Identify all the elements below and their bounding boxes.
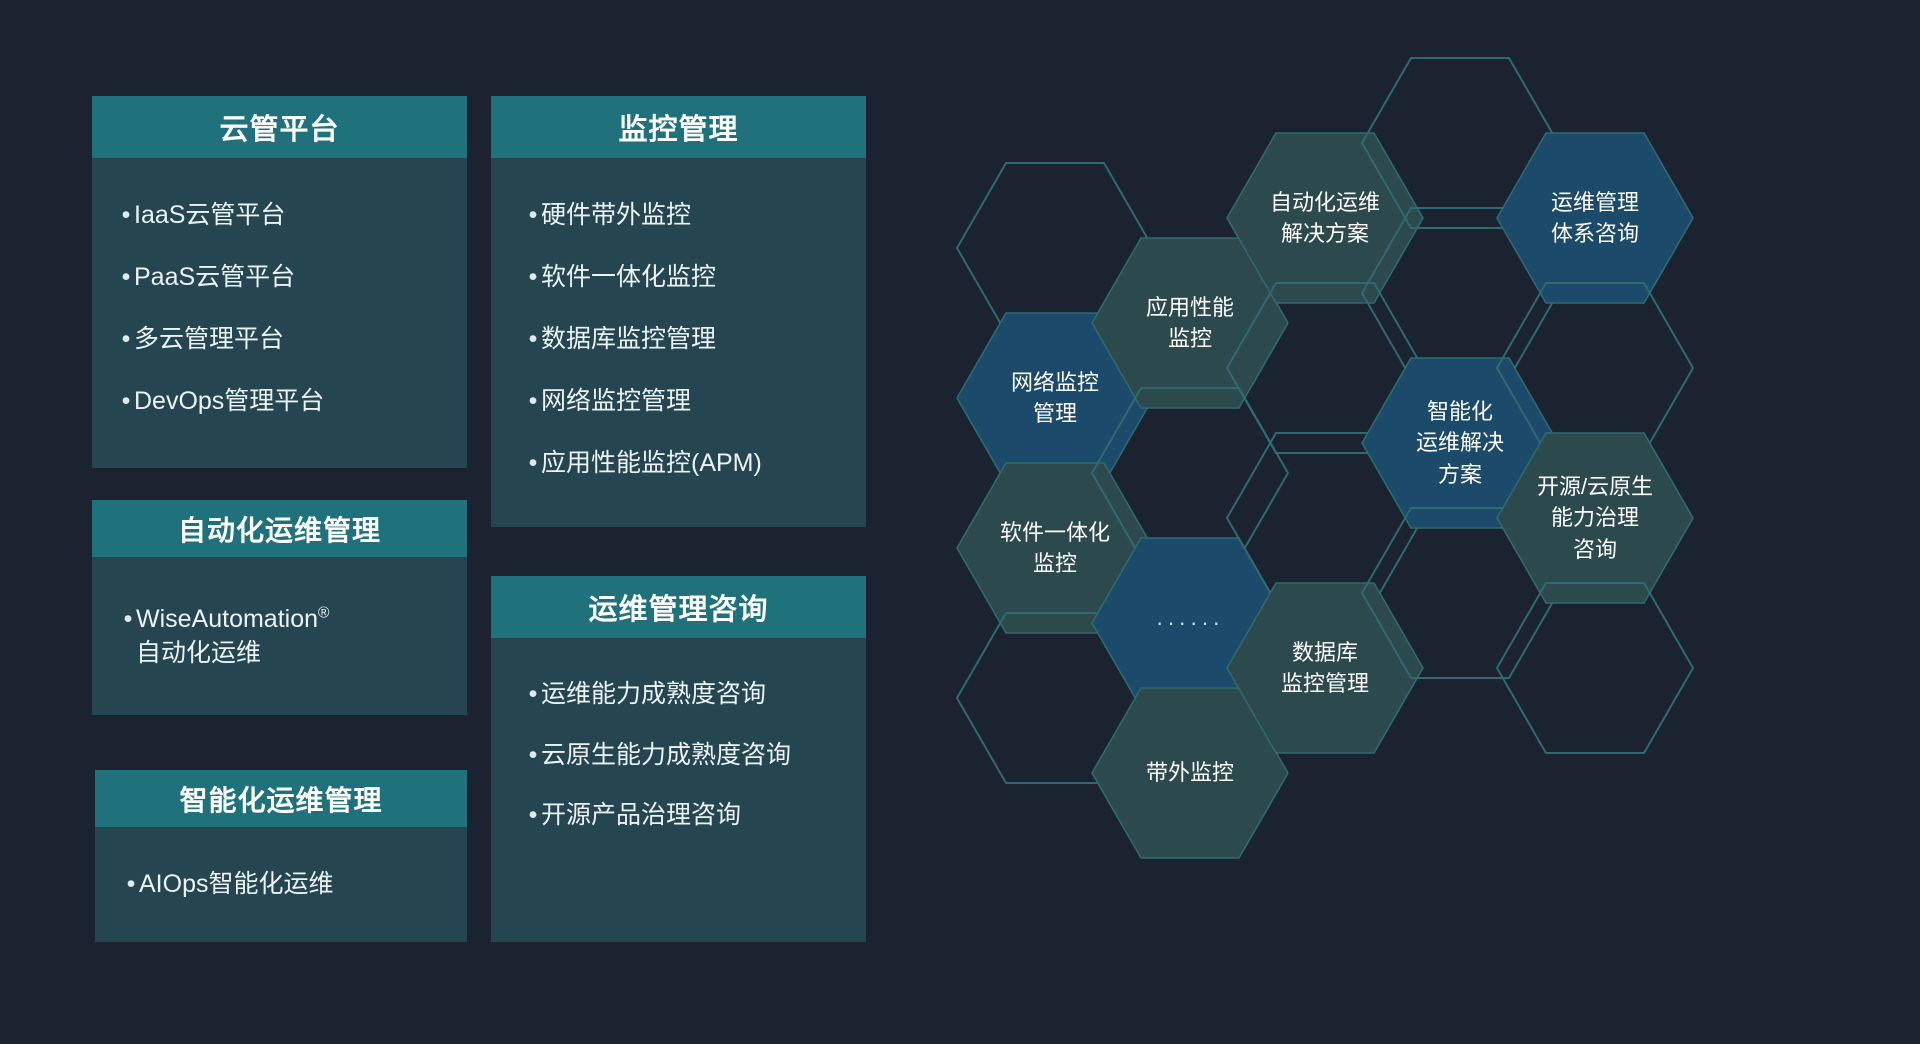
list-item-label: 软件一体化监控 — [541, 261, 852, 293]
card-ops-consulting-title: 运维管理咨询 — [491, 576, 866, 638]
diagram-root: 云管平台 • IaaS云管平台 • PaaS云管平台 • 多云管理平台 • De… — [0, 0, 1920, 1044]
card-ops-consulting-body: • 运维能力成熟度咨询 • 云原生能力成熟度咨询 • 开源产品治理咨询 — [491, 638, 866, 942]
list-item-label: DevOps管理平台 — [134, 385, 453, 417]
list-item-label: 云原生能力成熟度咨询 — [541, 739, 852, 772]
card-cloud-platform[interactable]: 云管平台 • IaaS云管平台 • PaaS云管平台 • 多云管理平台 • De… — [92, 96, 467, 468]
list-item: • PaaS云管平台 — [118, 261, 453, 293]
list-item-label: PaaS云管平台 — [134, 261, 453, 293]
list-item: • DevOps管理平台 — [118, 385, 453, 417]
card-cloud-platform-title: 云管平台 — [92, 96, 467, 158]
bullet-icon: • — [525, 261, 541, 293]
card-automation-ops[interactable]: 自动化运维管理 • WiseAutomation®自动化运维 — [92, 500, 467, 715]
list-item-label: AIOps智能化运维 — [139, 868, 453, 901]
bullet-icon: • — [525, 385, 541, 417]
list-item-label: 应用性能监控(APM) — [541, 447, 852, 479]
list-item: • 开源产品治理咨询 — [525, 799, 852, 832]
card-aiops[interactable]: 智能化运维管理 • AIOps智能化运维 — [95, 770, 467, 942]
card-monitoring-title: 监控管理 — [491, 96, 866, 158]
list-item-label: 网络监控管理 — [541, 385, 852, 417]
hex-empty-j — [1497, 583, 1693, 753]
product-name: WiseAutomation — [136, 605, 318, 633]
card-aiops-title: 智能化运维管理 — [95, 770, 467, 827]
bullet-icon: • — [525, 799, 541, 832]
bullet-icon: • — [525, 199, 541, 231]
bullet-icon: • — [118, 261, 134, 293]
capability-cards-panel: 云管平台 • IaaS云管平台 • PaaS云管平台 • 多云管理平台 • De… — [0, 0, 900, 1044]
card-monitoring-body: • 硬件带外监控 • 软件一体化监控 • 数据库监控管理 • 网络监控管理 • — [491, 158, 866, 527]
registered-trademark-icon: ® — [318, 605, 329, 622]
list-item-label: WiseAutomation®自动化运维 — [136, 602, 453, 670]
list-item: • IaaS云管平台 — [118, 199, 453, 231]
bullet-icon: • — [120, 602, 136, 636]
list-item: • 多云管理平台 — [118, 323, 453, 355]
list-item: • 网络监控管理 — [525, 385, 852, 417]
hexagon-grid-panel: 网络监控 管理软件一体化 监控应用性能 监控······带外监控自动化运维 解决… — [900, 0, 1920, 1044]
list-item-label: IaaS云管平台 — [134, 199, 453, 231]
list-item-label: 开源产品治理咨询 — [541, 799, 852, 832]
list-item-label: 硬件带外监控 — [541, 199, 852, 231]
list-item: • 运维能力成熟度咨询 — [525, 678, 852, 711]
list-item: • 软件一体化监控 — [525, 261, 852, 293]
card-aiops-body: • AIOps智能化运维 — [95, 827, 467, 942]
bullet-icon: • — [525, 447, 541, 479]
card-ops-consulting[interactable]: 运维管理咨询 • 运维能力成熟度咨询 • 云原生能力成熟度咨询 • 开源产品治理… — [491, 576, 866, 942]
bullet-icon: • — [118, 323, 134, 355]
list-item: • 硬件带外监控 — [525, 199, 852, 231]
list-item-label: 数据库监控管理 — [541, 323, 852, 355]
card-automation-ops-body: • WiseAutomation®自动化运维 — [92, 557, 467, 715]
bullet-icon: • — [123, 868, 139, 901]
bullet-icon: • — [118, 385, 134, 417]
list-item: • 应用性能监控(APM) — [525, 447, 852, 479]
list-item: • WiseAutomation®自动化运维 — [120, 602, 453, 670]
bullet-icon: • — [525, 323, 541, 355]
list-item-label: 多云管理平台 — [134, 323, 453, 355]
bullet-icon: • — [118, 199, 134, 231]
bullet-icon: • — [525, 739, 541, 772]
card-automation-ops-title: 自动化运维管理 — [92, 500, 467, 557]
list-item-label: 运维能力成熟度咨询 — [541, 678, 852, 711]
list-item: • 云原生能力成熟度咨询 — [525, 739, 852, 772]
bullet-icon: • — [525, 678, 541, 711]
list-item: • 数据库监控管理 — [525, 323, 852, 355]
hex-opsconsult[interactable] — [1497, 133, 1693, 303]
hexagon-grid-svg — [900, 0, 1920, 1044]
list-item: • AIOps智能化运维 — [123, 868, 453, 901]
product-subtitle: 自动化运维 — [136, 639, 261, 667]
card-monitoring[interactable]: 监控管理 • 硬件带外监控 • 软件一体化监控 • 数据库监控管理 • 网络监控… — [491, 96, 866, 527]
card-cloud-platform-body: • IaaS云管平台 • PaaS云管平台 • 多云管理平台 • DevOps管… — [92, 158, 467, 468]
